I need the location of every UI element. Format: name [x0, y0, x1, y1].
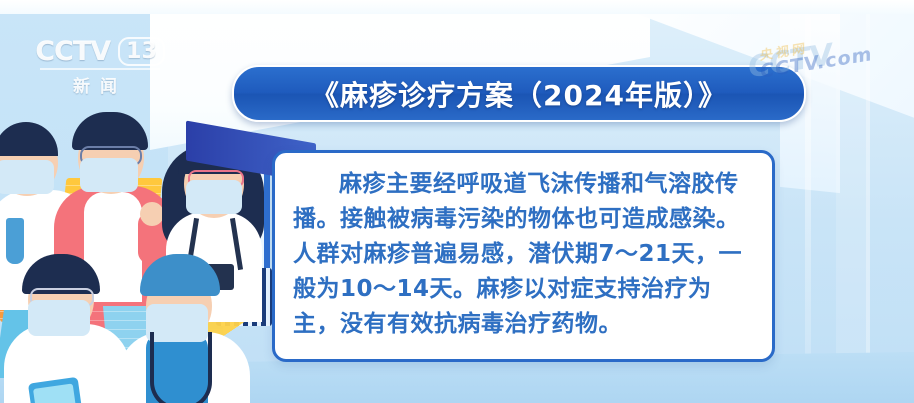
page-title: 《麻疹诊疗方案（2024年版）》 — [311, 74, 727, 114]
background-top-strip — [0, 0, 914, 14]
person-1-face-mask — [0, 160, 54, 194]
cctv-logo-rule — [40, 68, 160, 70]
broadcast-frame: 《麻疹诊疗方案（2024年版）》 麻疹主要经呼吸道飞沫传播和气溶胶传播。接触被病… — [0, 0, 914, 403]
person-3-face-mask — [186, 180, 242, 214]
person-2-hair — [72, 112, 148, 150]
person-1-tie — [6, 218, 24, 264]
cctv-channel-number: 13 — [118, 37, 165, 66]
person-4-face-mask — [28, 300, 90, 336]
stethoscope-icon — [150, 332, 212, 403]
person-2-face-mask — [80, 158, 138, 192]
content-paragraph: 麻疹主要经呼吸道飞沫传播和气溶胶传播。接触被病毒污染的物体也可造成感染。人群对麻… — [293, 167, 754, 342]
cctv-wordmark: CCTV — [35, 36, 110, 67]
person-2-fist — [140, 202, 164, 226]
person-1-hair — [0, 122, 58, 156]
cctv-channel-name: 新闻 — [36, 72, 164, 97]
title-banner: 《麻疹诊疗方案（2024年版）》 — [232, 65, 806, 122]
cctv13-channel-logo: CCTV 13 新闻 — [36, 36, 164, 90]
cctv-logo-row: CCTV 13 — [36, 36, 164, 67]
content-card: 麻疹主要经呼吸道飞沫传播和气溶胶传播。接触被病毒污染的物体也可造成感染。人群对麻… — [272, 150, 775, 362]
